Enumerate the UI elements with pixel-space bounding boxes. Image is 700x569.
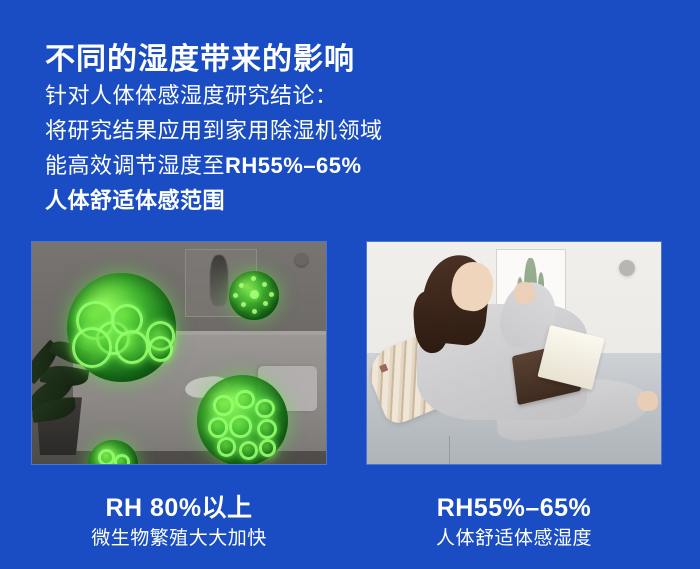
body-line-2: 将研究结果应用到家用除湿机领域 bbox=[45, 113, 465, 148]
microbe-icon bbox=[67, 273, 176, 382]
body-copy: 针对人体体感湿度研究结论： 将研究结果应用到家用除湿机领域 能高效调节湿度至RH… bbox=[45, 78, 465, 218]
caption-comfort-humidity: RH55%–65% 人体舒适体感湿度 bbox=[367, 492, 661, 553]
caption-high-humidity: RH 80%以上 微生物繁殖大大加快 bbox=[32, 492, 326, 553]
microbe-icon bbox=[197, 375, 288, 464]
microbe-icon bbox=[229, 271, 279, 320]
page-title: 不同的湿度带来的影响 bbox=[45, 38, 355, 82]
panel-captions: RH 80%以上 微生物繁殖大大加快 RH55%–65% 人体舒适体感湿度 bbox=[0, 492, 700, 569]
caption-main-text: RH55%–65% bbox=[367, 492, 661, 524]
dim-living-room-scene bbox=[32, 242, 326, 464]
panel-image-high-humidity bbox=[32, 242, 326, 464]
sofa-seam bbox=[449, 436, 450, 464]
humidity-infographic-poster: 不同的湿度带来的影响 针对人体体感湿度研究结论： 将研究结果应用到家用除湿机领域… bbox=[0, 0, 700, 569]
bright-living-room-scene bbox=[367, 242, 661, 464]
person-foot bbox=[637, 391, 658, 411]
wall-speaker-icon bbox=[619, 260, 635, 276]
body-line-3: 能高效调节湿度至RH55%–65% bbox=[45, 148, 465, 183]
comparison-panels bbox=[0, 242, 700, 464]
body-line-4: 人体舒适体感范围 bbox=[45, 183, 465, 218]
body-line-3-prefix: 能高效调节湿度至 bbox=[45, 153, 225, 178]
body-line-1: 针对人体体感湿度研究结论： bbox=[45, 78, 465, 113]
caption-main-text: RH 80%以上 bbox=[32, 492, 326, 524]
panel-image-comfort-humidity bbox=[367, 242, 661, 464]
person-hand bbox=[514, 282, 535, 304]
caption-sub-text: 微生物繁殖大大加快 bbox=[32, 524, 326, 553]
caption-sub-text: 人体舒适体感湿度 bbox=[367, 524, 661, 553]
body-line-3-highlight: RH55%–65% bbox=[225, 153, 362, 178]
